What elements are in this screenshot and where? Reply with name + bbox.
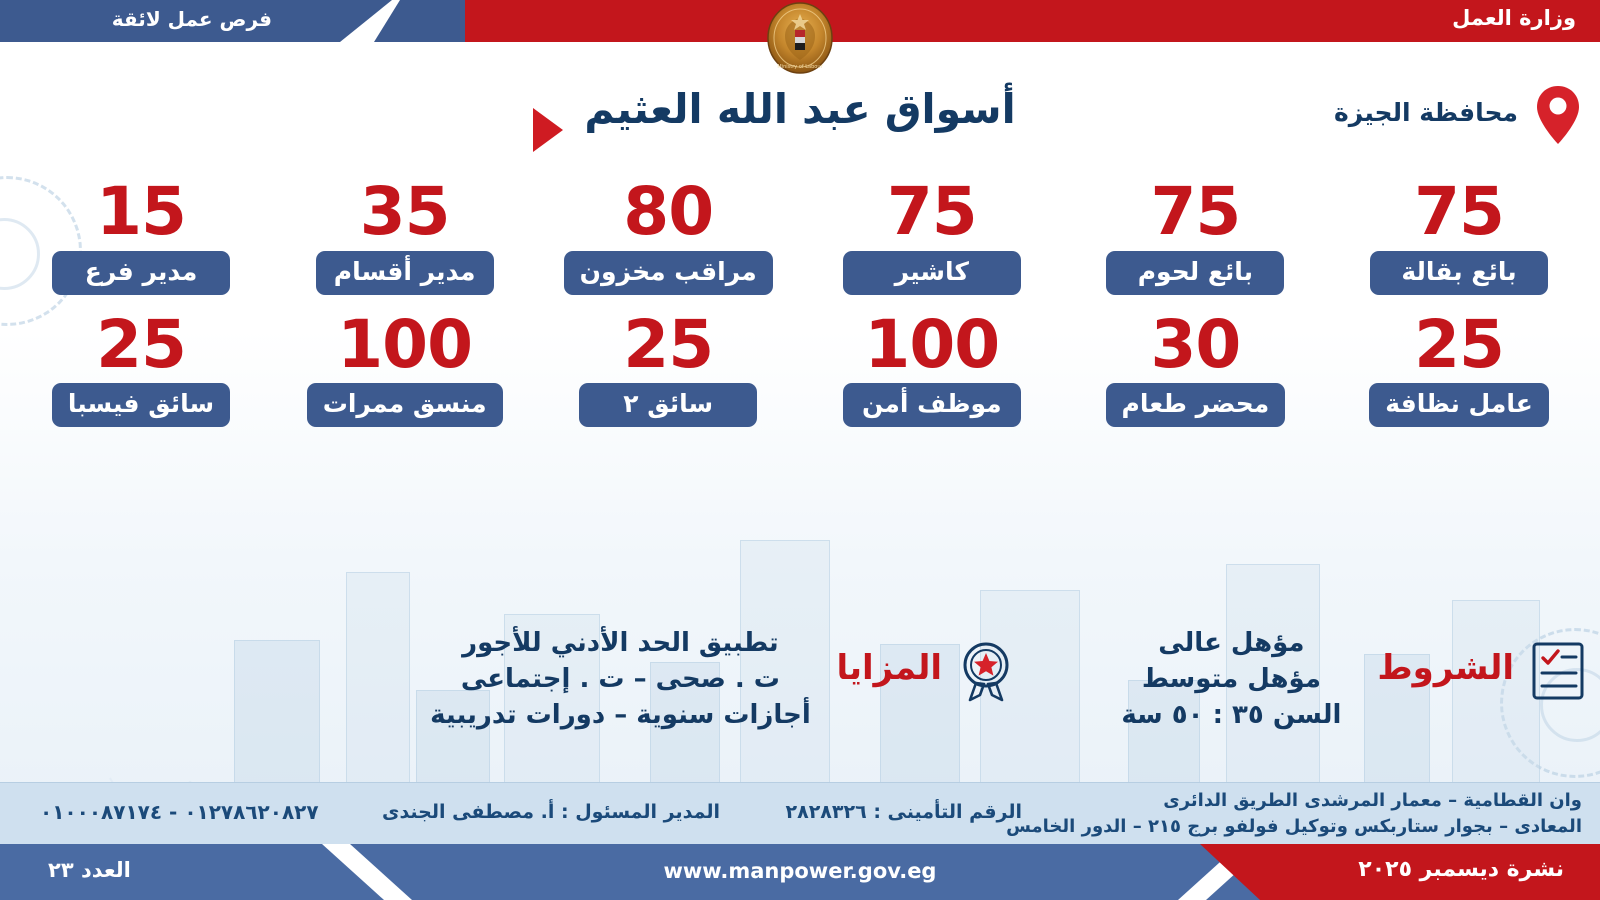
contact-info-strip: وان القطامية – معمار المرشدى الطريق الدا… [0,782,1600,844]
job-title: سائق ٢ [579,383,757,427]
job-card[interactable]: 25 سائق فيسبا [18,313,264,428]
job-title: مراقب مخزون [564,251,773,295]
triangle-left-icon [533,108,563,152]
benefit-item: ت . صحى – ت . إجتماعى [420,662,820,698]
tagline-badge: فرص عمل لائقة [0,0,392,42]
job-card[interactable]: 25 عامل نظافة [1336,313,1582,428]
condition-item: السن ٣٥ : ٥٠ سة [1101,698,1361,734]
job-card[interactable]: 75 بائع بقالة [1336,180,1582,295]
job-count: 80 [545,180,791,245]
job-title: موظف أمن [843,383,1021,427]
job-card[interactable]: 80 مراقب مخزون [545,180,791,295]
checklist-clipboard-icon [1530,640,1586,702]
address-line-2: المعادى – بجوار ستاربكس وتوكيل فولفو برج… [1006,814,1582,840]
job-count: 75 [809,180,1055,245]
requirements-section: الشروط مؤهل عالى مؤهل متوسط السن ٣٥ : ٥٠… [0,612,1600,772]
job-card[interactable]: 30 محضر طعام [1072,313,1318,428]
job-count: 35 [282,180,528,245]
job-count: 15 [18,180,264,245]
job-title: مدير أقسام [316,251,494,295]
job-title: بائع بقالة [1370,251,1548,295]
job-title: مدير فرع [52,251,230,295]
job-count: 25 [18,313,264,378]
egypt-eagle-emblem: Ministry of Labour [757,2,843,74]
contact-phone-numbers[interactable]: ٠١٢٧٨٦٢٠٨٢٧ - ٠١٠٠٠٨٧١٧٤ [40,800,319,824]
job-count: 25 [1336,313,1582,378]
job-title: كاشير [843,251,1021,295]
footer-bar: www.manpower.gov.eg نشرة ديسمبر ٢٠٢٥ الع… [0,844,1600,900]
benefits-block: المزايا تطبيق الحد الأدني للأجور ت . صحى… [420,626,1014,734]
job-card[interactable]: 75 بائع لحوم [1072,180,1318,295]
company-name-title: أسواق عبد الله العثيم [0,85,1600,133]
job-title: بائع لحوم [1106,251,1284,295]
benefits-heading: المزايا [836,648,942,688]
condition-item: مؤهل متوسط [1101,662,1361,698]
condition-item: مؤهل عالى [1101,626,1361,662]
benefits-list: تطبيق الحد الأدني للأجور ت . صحى – ت . إ… [420,626,820,734]
responsible-manager: المدير المسئول : أ. مصطفى الجندى [382,801,720,823]
job-count: 25 [545,313,791,378]
benefit-item: تطبيق الحد الأدني للأجور [420,626,820,662]
job-row-2: 25 عامل نظافة 30 محضر طعام 100 موظف أمن … [0,313,1600,428]
ministry-label: وزارة العمل [1452,6,1576,30]
job-count: 100 [809,313,1055,378]
job-count: 75 [1072,180,1318,245]
job-card[interactable]: 75 كاشير [809,180,1055,295]
job-card[interactable]: 15 مدير فرع [18,180,264,295]
bulletin-label: نشرة ديسمبر ٢٠٢٥ [1358,857,1564,882]
job-row-1: 75 بائع بقالة 75 بائع لحوم 75 كاشير 80 م… [0,180,1600,295]
job-count: 100 [282,313,528,378]
job-count: 75 [1336,180,1582,245]
conditions-heading: الشروط [1377,648,1514,688]
job-card[interactable]: 100 موظف أمن [809,313,1055,428]
conditions-list: مؤهل عالى مؤهل متوسط السن ٣٥ : ٥٠ سة [1101,626,1361,734]
svg-text:Ministry of Labour: Ministry of Labour [777,64,823,70]
title-row: محافظة الجيزة أسواق عبد الله العثيم [0,90,1600,154]
address-line-1: وان القطامية – معمار المرشدى الطريق الدا… [1006,788,1582,814]
job-card[interactable]: 100 منسق ممرات [282,313,528,428]
award-medal-icon [958,640,1014,702]
job-title: منسق ممرات [307,383,503,427]
job-title: سائق فيسبا [52,383,230,427]
conditions-block: الشروط مؤهل عالى مؤهل متوسط السن ٣٥ : ٥٠… [1101,626,1586,734]
benefit-item: أجازات سنوية – دورات تدريبية [420,698,820,734]
job-card[interactable]: 25 سائق ٢ [545,313,791,428]
tagline-label: فرص عمل لائقة [112,7,272,31]
job-vacancy-grid: 75 بائع بقالة 75 بائع لحوم 75 كاشير 80 م… [0,180,1600,427]
insurance-number: الرقم التأمينى : ٢٨٢٨٣٢٦ [786,801,1022,823]
issue-number-label: العدد ٢٣ [48,858,131,882]
job-title: عامل نظافة [1369,383,1549,427]
job-title: محضر طعام [1106,383,1286,427]
job-count: 30 [1072,313,1318,378]
company-address: وان القطامية – معمار المرشدى الطريق الدا… [1006,788,1582,840]
job-card[interactable]: 35 مدير أقسام [282,180,528,295]
